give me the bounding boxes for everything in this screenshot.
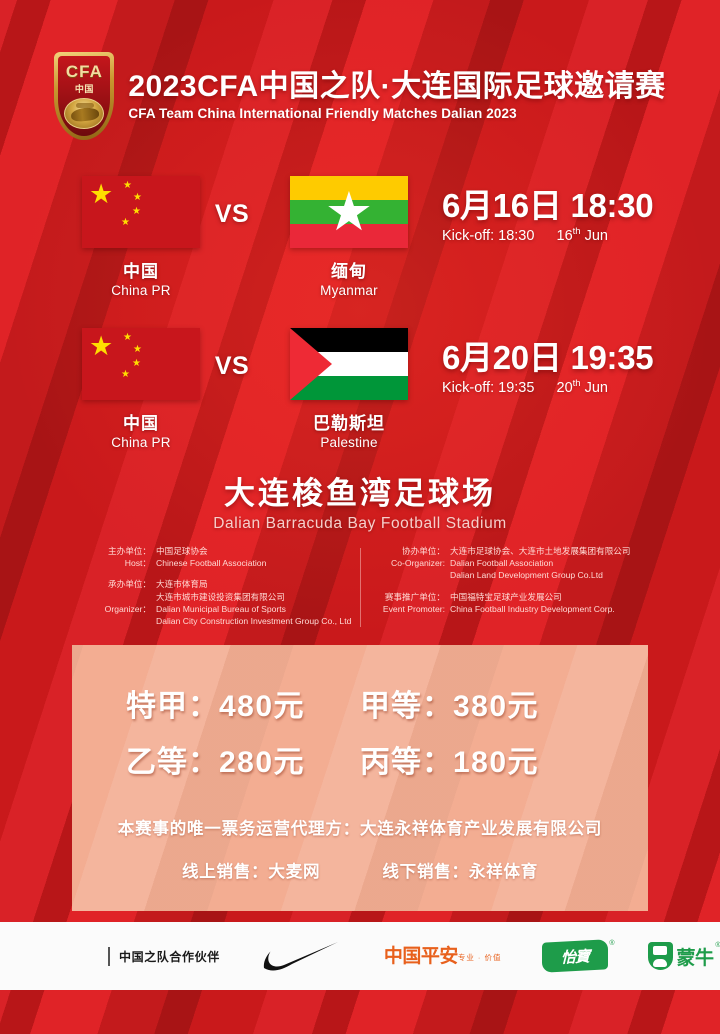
team-name-en: Myanmar <box>320 283 378 298</box>
sponsor-mengniu-logo-icon: 蒙牛 ® <box>648 942 714 970</box>
ticket-panel-content: 特甲：480元 甲等：380元 乙等：280元 丙等：180元 本赛事的唯一票务… <box>72 645 648 882</box>
china-flag-icon: ★ ★ ★ ★ ★ <box>82 328 200 400</box>
co-organizer-value-en-1: Dalian Football Association <box>450 558 553 568</box>
flag-star: ★ <box>132 359 141 369</box>
promoter-value-en: China Football Industry Development Corp… <box>450 603 615 615</box>
kickoff-day: 20 <box>557 379 573 395</box>
price-grid: 特甲：480元 甲等：380元 乙等：280元 丙等：180元 <box>72 681 648 781</box>
organizer-row-en: Organizer： Dalian Municipal Bureau of Sp… <box>98 603 336 627</box>
flag-star: ★ <box>123 181 132 191</box>
poster-root: CFA 中国 2023CFA中国之队·大连国际足球邀请赛 CFA Team Ch… <box>0 0 720 1034</box>
flag-star: ★ <box>121 218 130 228</box>
host-label-cn: 主办单位： <box>98 545 156 557</box>
cfa-logo-subtext: 中国 <box>75 82 94 95</box>
venue-block: 大连梭鱼湾足球场 Dalian Barracuda Bay Football S… <box>0 468 720 533</box>
price-tier: 乙等： <box>126 746 219 779</box>
palestine-flag-icon <box>290 328 408 400</box>
mengniu-name: 蒙牛 <box>677 943 714 970</box>
team-name-cn: 巴勒斯坦 <box>313 409 385 434</box>
home-team: ★ ★ ★ ★ ★ 中国 China PR <box>78 176 204 298</box>
cfa-shield-inner: CFA 中国 <box>58 56 110 136</box>
organizer-value-en-2: Dalian City Construction Investment Grou… <box>156 615 351 627</box>
offline-sales-note: 线下销售：永祥体育 <box>382 858 538 882</box>
match-datetime: 6月20日 19:35 Kick-off: 19:35 20th Jun <box>412 328 720 395</box>
match-date-time-cn: 6月16日 18:30 <box>442 188 720 224</box>
flag-star: ★ <box>133 345 142 355</box>
price-item: 特甲：480元 <box>126 681 360 725</box>
price-amount: 480元 <box>219 690 305 723</box>
organizer-label-en: Organizer： <box>98 603 156 627</box>
organizer-row-cn: 承办单位： 大连市体育局 大连市城市建设投资集团有限公司 <box>98 578 336 602</box>
organizers-block: 主办单位： 中国足球协会 Host： Chinese Football Asso… <box>0 545 720 630</box>
myanmar-flag-icon: ★ <box>290 176 408 248</box>
organizers-right-column: 协办单位： 大连市足球协会、大连市土地发展集团有限公司 Co-Organizer… <box>360 545 720 630</box>
flag-star: ★ <box>89 181 113 208</box>
flag-star: ★ <box>132 207 141 217</box>
host-value-cn: 中国足球协会 <box>156 545 208 557</box>
yibao-flag-shape: 怡寶 <box>542 939 608 972</box>
vs-label: VS <box>204 352 260 381</box>
match-row: ★ ★ ★ ★ ★ 中国 China PR VS ★ 缅甸 Myanmar 6月… <box>0 176 720 296</box>
promoter-value-cn: 中国福特宝足球产业发展公司 <box>450 591 562 603</box>
team-name-cn: 中国 <box>123 257 159 282</box>
co-organizer-value-cn: 大连市足球协会、大连市土地发展集团有限公司 <box>450 545 630 557</box>
ticket-agent-note: 本赛事的唯一票务运营代理方：大连永祥体育产业发展有限公司 <box>72 815 648 839</box>
team-name-cn: 中国 <box>123 409 159 434</box>
event-title-cn: 2023CFA中国之队·大连国际足球邀请赛 <box>128 71 665 103</box>
price-amount: 380元 <box>453 690 539 723</box>
co-organizer-label-cn: 协办单位： <box>382 545 450 557</box>
poster-header: CFA 中国 2023CFA中国之队·大连国际足球邀请赛 CFA Team Ch… <box>0 52 720 140</box>
home-team: ★ ★ ★ ★ ★ 中国 China PR <box>78 328 204 450</box>
match-kickoff-en: Kick-off: 19:35 20th Jun <box>442 378 720 396</box>
co-organizer-row-en: Co-Organizer: Dalian Football Associatio… <box>382 557 696 581</box>
divider-bar <box>108 947 110 966</box>
kickoff-day: 16 <box>557 227 573 243</box>
flag-star: ★ <box>89 333 113 360</box>
ticket-price-panel: 特甲：480元 甲等：380元 乙等：280元 丙等：180元 本赛事的唯一票务… <box>72 645 648 911</box>
co-organizer-row-cn: 协办单位： 大连市足球协会、大连市土地发展集团有限公司 <box>382 545 696 557</box>
host-row-cn: 主办单位： 中国足球协会 <box>98 545 336 557</box>
mengniu-mark-shape <box>648 942 673 970</box>
sponsor-label-group: 中国之队合作伙伴 <box>108 947 220 966</box>
price-amount: 280元 <box>219 746 305 779</box>
price-item: 甲等：380元 <box>360 681 594 725</box>
away-team: ★ 缅甸 Myanmar <box>286 176 412 298</box>
pingan-tagline: 专业 · 价值 <box>458 952 502 963</box>
price-item: 乙等：280元 <box>126 737 360 781</box>
pingan-name: 中国平安 <box>384 947 458 966</box>
co-organizer-block: 协办单位： 大连市足球协会、大连市土地发展集团有限公司 Co-Organizer… <box>382 545 696 582</box>
organizer-value-cn-2: 大连市城市建设投资集团有限公司 <box>156 591 285 603</box>
match-kickoff-en: Kick-off: 18:30 16th Jun <box>442 226 720 244</box>
kickoff-month: Jun <box>585 227 608 243</box>
organizer-block: 承办单位： 大连市体育局 大连市城市建设投资集团有限公司 Organizer： … <box>98 578 336 627</box>
ticket-notes: 本赛事的唯一票务运营代理方：大连永祥体育产业发展有限公司 线上销售：大麦网 线下… <box>72 815 648 882</box>
event-title-en: CFA Team China International Friendly Ma… <box>128 106 665 121</box>
host-value-en: Chinese Football Association <box>156 557 266 569</box>
match-date-cn: 6月16日 <box>442 187 562 224</box>
sponsor-yibao-logo-icon: 怡寶 ® <box>542 941 608 971</box>
team-name-en: China PR <box>111 435 170 450</box>
organizer-value-en-1: Dalian Municipal Bureau of Sports <box>156 604 286 614</box>
promoter-row-en: Event Promoter: China Football Industry … <box>382 603 696 615</box>
co-organizer-value-en-2: Dalian Land Development Group Co.Ltd <box>450 569 603 581</box>
venue-name-cn: 大连梭鱼湾足球场 <box>0 468 720 513</box>
kickoff-label: Kick-off: <box>442 379 494 395</box>
match-row: ★ ★ ★ ★ ★ 中国 China PR VS 巴勒斯坦 Palestine … <box>0 328 720 448</box>
kickoff-time: 19:35 <box>498 379 534 395</box>
away-team: 巴勒斯坦 Palestine <box>286 328 412 450</box>
match-time: 19:35 <box>570 339 653 376</box>
mengniu-trademark: ® <box>715 942 720 949</box>
promoter-label-en: Event Promoter: <box>382 603 450 615</box>
cfa-dragon-emblem-icon <box>64 98 104 129</box>
price-amount: 180元 <box>453 746 539 779</box>
china-flag-icon: ★ ★ ★ ★ ★ <box>82 176 200 248</box>
price-tier: 特甲： <box>126 690 219 723</box>
kickoff-label: Kick-off: <box>442 227 494 243</box>
match-time: 18:30 <box>570 187 653 224</box>
flag-star: ★ <box>325 185 373 239</box>
cfa-logo-icon: CFA 中国 <box>54 52 114 140</box>
flag-triangle-red <box>290 328 332 400</box>
price-tier: 甲等： <box>360 690 453 723</box>
flag-star: ★ <box>123 333 132 343</box>
yibao-trademark: ® <box>609 940 614 947</box>
sponsor-band: 中国之队合作伙伴 中国平安 专业 · 价值 怡寶 ® 蒙牛 ® <box>0 922 720 990</box>
organizer-label-cn: 承办单位： <box>98 578 156 602</box>
cfa-logo-text: CFA <box>66 63 103 80</box>
venue-name-en: Dalian Barracuda Bay Football Stadium <box>0 515 720 533</box>
yibao-name: 怡寶 <box>560 945 588 967</box>
kickoff-time: 18:30 <box>498 227 534 243</box>
title-block: 2023CFA中国之队·大连国际足球邀请赛 CFA Team China Int… <box>128 71 665 121</box>
organizer-value-cn-1: 大连市体育局 <box>156 579 208 589</box>
sponsor-pingan-logo-icon: 中国平安 专业 · 价值 <box>384 947 502 966</box>
match-datetime: 6月16日 18:30 Kick-off: 18:30 16th Jun <box>412 176 720 243</box>
promoter-label-cn: 赛事推广单位： <box>382 591 450 603</box>
flag-star: ★ <box>133 193 142 203</box>
host-block: 主办单位： 中国足球协会 Host： Chinese Football Asso… <box>98 545 336 569</box>
sponsor-label: 中国之队合作伙伴 <box>119 948 220 965</box>
flag-star: ★ <box>121 370 130 380</box>
price-tier: 丙等： <box>360 746 453 779</box>
kickoff-ordinal: th <box>573 226 581 237</box>
promoter-row-cn: 赛事推广单位： 中国福特宝足球产业发展公司 <box>382 591 696 603</box>
price-item: 丙等：180元 <box>360 737 594 781</box>
host-label-en: Host： <box>98 557 156 569</box>
match-date-cn: 6月20日 <box>442 339 562 376</box>
online-sales-note: 线上销售：大麦网 <box>182 858 320 882</box>
sponsor-nike-logo-icon <box>262 941 340 971</box>
kickoff-ordinal: th <box>573 378 581 389</box>
co-organizer-label-en: Co-Organizer: <box>382 557 450 581</box>
kickoff-month: Jun <box>585 379 608 395</box>
organizers-left-column: 主办单位： 中国足球协会 Host： Chinese Football Asso… <box>0 545 360 630</box>
team-name-en: Palestine <box>320 435 377 450</box>
host-row-en: Host： Chinese Football Association <box>98 557 336 569</box>
vs-label: VS <box>204 200 260 229</box>
promoter-block: 赛事推广单位： 中国福特宝足球产业发展公司 Event Promoter: Ch… <box>382 591 696 615</box>
ticket-sales-channels: 线上销售：大麦网 线下销售：永祥体育 <box>72 858 648 882</box>
team-name-en: China PR <box>111 283 170 298</box>
match-date-time-cn: 6月20日 19:35 <box>442 340 720 376</box>
team-name-cn: 缅甸 <box>331 257 367 282</box>
